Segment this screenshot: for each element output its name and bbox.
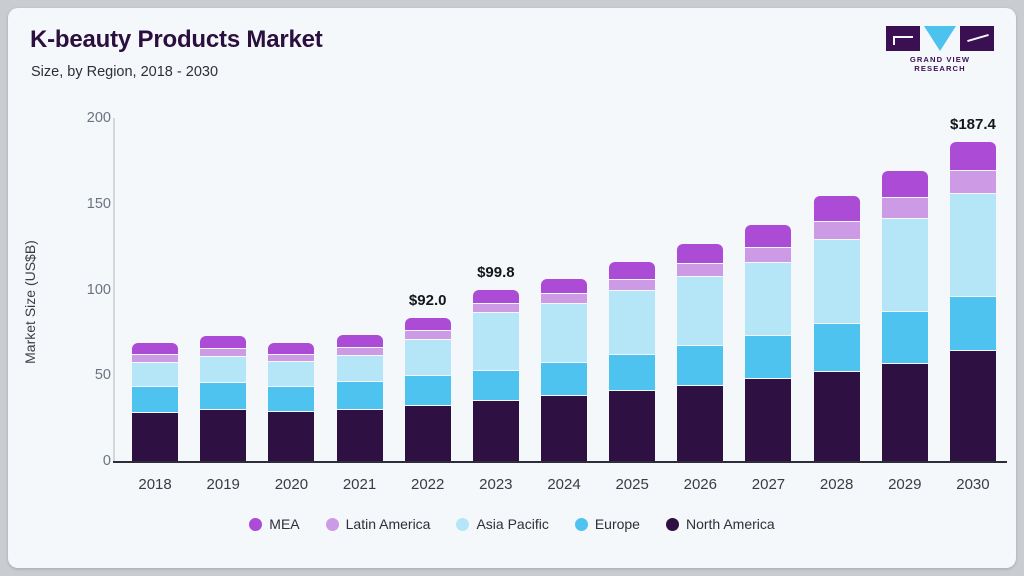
bar-segment[interactable] xyxy=(745,247,791,262)
bar-segment[interactable] xyxy=(541,279,587,293)
bar-segment[interactable] xyxy=(337,355,383,381)
bar-segment[interactable] xyxy=(745,225,791,246)
y-axis-tick-label: 100 xyxy=(49,282,111,298)
bar-segment[interactable] xyxy=(609,262,655,278)
bar-segment[interactable] xyxy=(200,348,246,356)
bar-segment[interactable] xyxy=(132,412,178,461)
bar-segment[interactable] xyxy=(677,276,723,345)
legend-swatch-icon xyxy=(326,518,339,531)
bar-segment[interactable] xyxy=(473,400,519,461)
bar-segment[interactable] xyxy=(268,354,314,362)
bar-segment[interactable] xyxy=(268,361,314,386)
bar-segment[interactable] xyxy=(132,386,178,412)
bar-segment[interactable] xyxy=(814,221,860,239)
bar-segment[interactable] xyxy=(814,371,860,461)
bar-segment[interactable] xyxy=(882,311,928,363)
chart-card: K-beauty Products Market Size, by Region… xyxy=(8,8,1016,568)
bar-segment[interactable] xyxy=(950,296,996,350)
bar-segment[interactable] xyxy=(814,239,860,324)
bar-segment[interactable] xyxy=(745,262,791,335)
bar-segment[interactable] xyxy=(541,395,587,461)
chart-legend: MEALatin AmericaAsia PacificEuropeNorth … xyxy=(8,516,1016,532)
x-axis-tick-label: 2022 xyxy=(411,476,444,493)
bar-segment[interactable] xyxy=(405,339,451,376)
legend-label: Latin America xyxy=(346,516,431,532)
x-axis-tick-label: 2028 xyxy=(820,476,853,493)
x-axis-tick-label: 2029 xyxy=(888,476,921,493)
bar-column[interactable] xyxy=(541,279,587,461)
legend-item[interactable]: Asia Pacific xyxy=(456,516,548,532)
x-axis-tick-label: 2021 xyxy=(343,476,376,493)
x-axis-tick-label: 2027 xyxy=(752,476,785,493)
bar-segment[interactable] xyxy=(337,347,383,355)
bar-column[interactable] xyxy=(814,196,860,461)
legend-swatch-icon xyxy=(456,518,469,531)
bar-segment[interactable] xyxy=(882,197,928,218)
bar-column[interactable] xyxy=(405,318,451,461)
y-axis-tick-label: 150 xyxy=(49,196,111,212)
legend-label: North America xyxy=(686,516,775,532)
x-axis-tick-label: 2020 xyxy=(275,476,308,493)
bar-value-label: $187.4 xyxy=(950,116,996,133)
bar-segment[interactable] xyxy=(609,390,655,461)
bar-segment[interactable] xyxy=(200,409,246,461)
bar-segment[interactable] xyxy=(132,362,178,386)
bar-value-label: $99.8 xyxy=(477,264,515,281)
legend-swatch-icon xyxy=(666,518,679,531)
bar-column[interactable] xyxy=(200,336,246,461)
bar-segment[interactable] xyxy=(677,244,723,263)
y-axis-label: Market Size (US$B) xyxy=(22,192,38,412)
bar-segment[interactable] xyxy=(200,356,246,382)
bar-value-label: $92.0 xyxy=(409,292,447,309)
bar-segment[interactable] xyxy=(609,354,655,390)
bar-segment[interactable] xyxy=(541,362,587,395)
bar-segment[interactable] xyxy=(677,345,723,385)
legend-swatch-icon xyxy=(249,518,262,531)
bar-segment[interactable] xyxy=(677,263,723,276)
bar-column[interactable] xyxy=(268,343,314,461)
bar-segment[interactable] xyxy=(337,335,383,347)
bar-segment[interactable] xyxy=(337,409,383,461)
legend-swatch-icon xyxy=(575,518,588,531)
x-axis-line xyxy=(113,461,1007,463)
bar-segment[interactable] xyxy=(950,193,996,296)
bar-segment[interactable] xyxy=(609,290,655,354)
bar-segment[interactable] xyxy=(132,343,178,354)
bar-column[interactable] xyxy=(677,244,723,461)
y-axis-line xyxy=(113,118,115,463)
bar-segment[interactable] xyxy=(541,303,587,363)
bar-segment[interactable] xyxy=(745,335,791,378)
x-axis-tick-label: 2030 xyxy=(956,476,989,493)
bar-segment[interactable] xyxy=(405,405,451,461)
bar-segment[interactable] xyxy=(337,381,383,408)
legend-label: MEA xyxy=(269,516,299,532)
bar-segment[interactable] xyxy=(132,354,178,362)
y-axis-tick-label: 50 xyxy=(49,367,111,383)
bar-column[interactable] xyxy=(473,290,519,461)
legend-item[interactable]: North America xyxy=(666,516,775,532)
bar-segment[interactable] xyxy=(814,323,860,371)
legend-item[interactable]: Europe xyxy=(575,516,640,532)
legend-label: Europe xyxy=(595,516,640,532)
legend-item[interactable]: Latin America xyxy=(326,516,431,532)
bar-segment[interactable] xyxy=(473,312,519,370)
bar-segment[interactable] xyxy=(541,293,587,303)
bar-segment[interactable] xyxy=(473,303,519,312)
bar-segment[interactable] xyxy=(405,318,451,330)
bar-column[interactable] xyxy=(609,262,655,461)
bar-segment[interactable] xyxy=(882,171,928,197)
bar-segment[interactable] xyxy=(814,196,860,221)
bar-segment[interactable] xyxy=(200,336,246,348)
bar-segment[interactable] xyxy=(473,290,519,303)
bar-segment[interactable] xyxy=(950,142,996,170)
bar-column[interactable] xyxy=(337,335,383,461)
bar-column[interactable] xyxy=(132,343,178,461)
bar-segment[interactable] xyxy=(882,218,928,311)
legend-item[interactable]: MEA xyxy=(249,516,299,532)
x-axis-tick-label: 2026 xyxy=(684,476,717,493)
x-axis-tick-label: 2018 xyxy=(138,476,171,493)
bar-segment[interactable] xyxy=(950,170,996,193)
legend-label: Asia Pacific xyxy=(476,516,548,532)
bar-segment[interactable] xyxy=(405,330,451,339)
bar-segment[interactable] xyxy=(268,411,314,461)
x-axis-tick-label: 2024 xyxy=(547,476,580,493)
bar-segment[interactable] xyxy=(268,343,314,354)
y-axis-tick-label: 0 xyxy=(49,453,111,469)
bar-segment[interactable] xyxy=(745,378,791,461)
bar-segment[interactable] xyxy=(882,363,928,461)
x-axis-tick-label: 2019 xyxy=(207,476,240,493)
bar-segment[interactable] xyxy=(609,279,655,290)
bar-segment[interactable] xyxy=(268,386,314,412)
bar-column[interactable] xyxy=(745,225,791,461)
x-axis-tick-label: 2023 xyxy=(479,476,512,493)
bar-segment[interactable] xyxy=(200,382,246,409)
bar-segment[interactable] xyxy=(950,350,996,461)
bar-column[interactable] xyxy=(882,171,928,461)
x-axis-tick-label: 2025 xyxy=(615,476,648,493)
bar-segment[interactable] xyxy=(677,385,723,461)
bar-segment[interactable] xyxy=(473,370,519,400)
chart-plot-area: Market Size (US$B) 050100150200 20182019… xyxy=(8,8,1016,568)
bar-segment[interactable] xyxy=(405,375,451,404)
y-axis-tick-label: 200 xyxy=(49,110,111,126)
bar-column[interactable] xyxy=(950,142,996,461)
